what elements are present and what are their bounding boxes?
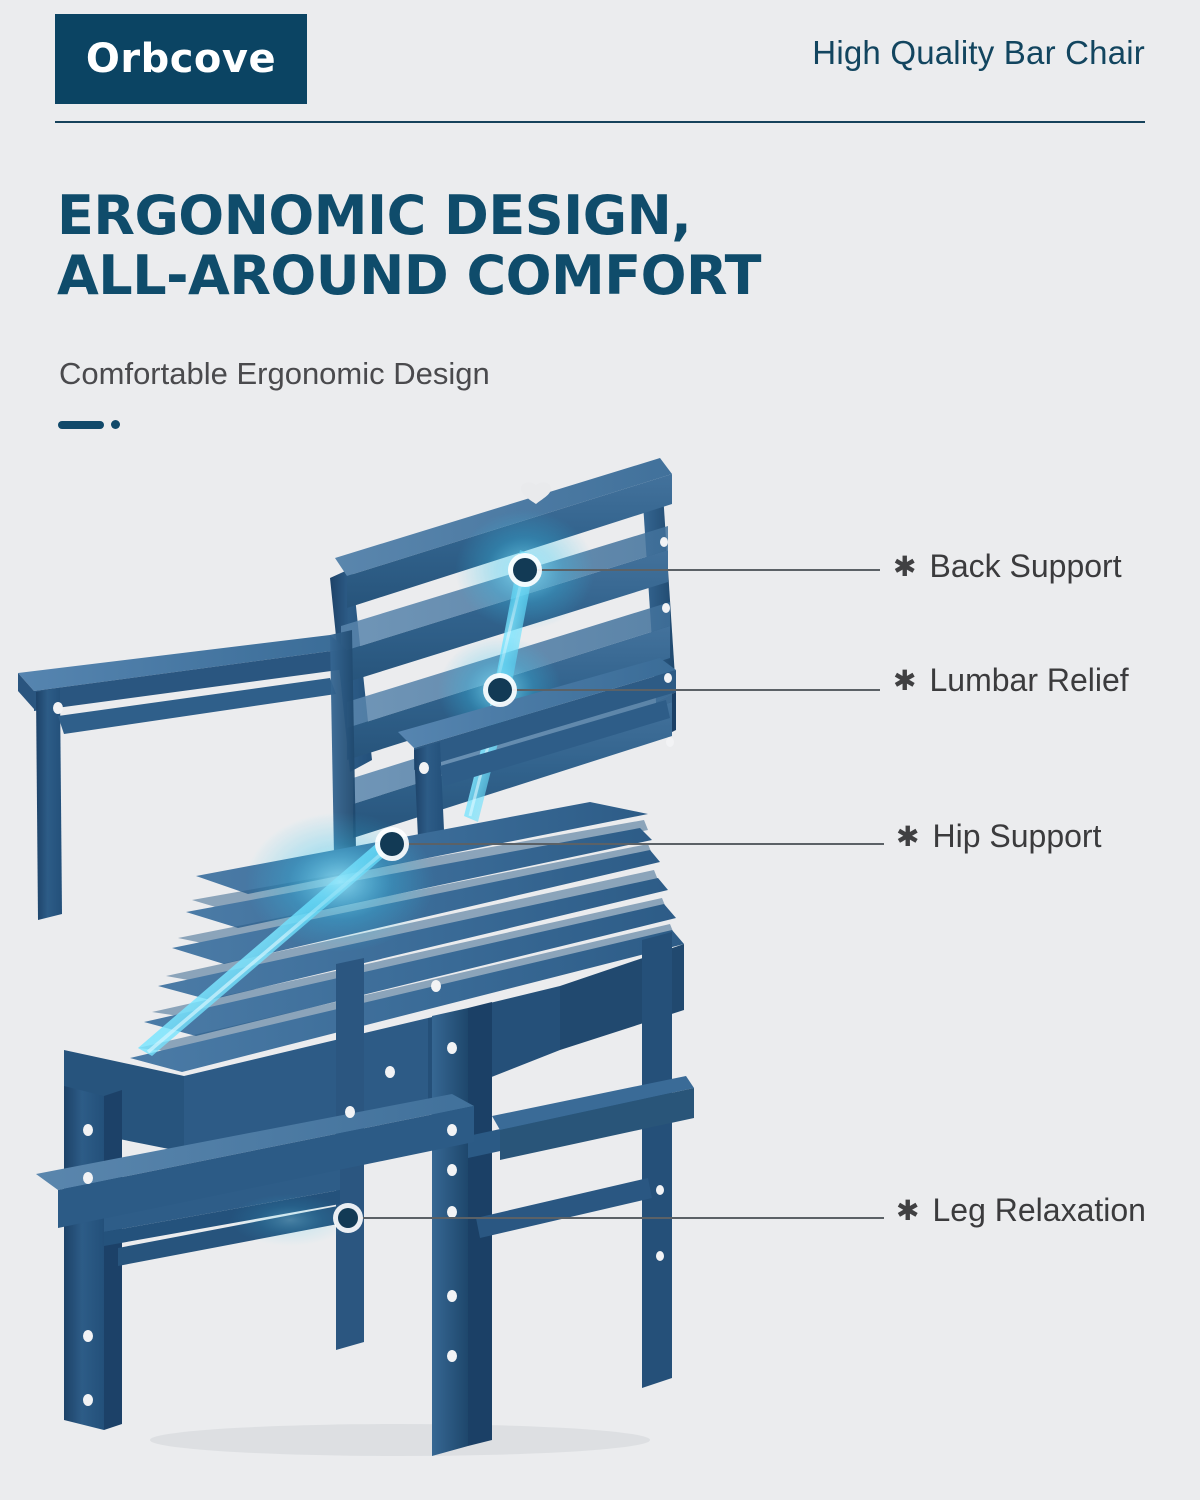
callout-lumbar-relief: ✱ Lumbar Relief	[893, 662, 1129, 699]
accent-divider	[58, 420, 120, 429]
asterisk-icon: ✱	[893, 553, 916, 581]
brand-logo-text: Orbcove	[86, 36, 276, 82]
asterisk-icon: ✱	[896, 823, 919, 851]
asterisk-icon: ✱	[893, 667, 916, 695]
header-title: High Quality Bar Chair	[812, 34, 1145, 72]
page-header: Orbcove High Quality Bar Chair	[0, 0, 1200, 124]
header-divider-rule	[55, 121, 1145, 123]
callout-hip-support: ✱ Hip Support	[896, 818, 1101, 855]
callout-back-support: ✱ Back Support	[893, 548, 1122, 585]
asterisk-icon: ✱	[896, 1197, 919, 1225]
page-subtitle: Comfortable Ergonomic Design	[59, 356, 490, 392]
callout-label: Back Support	[929, 548, 1121, 585]
callout-leg-relaxation: ✱ Leg Relaxation	[896, 1192, 1146, 1229]
divider-bar	[58, 421, 104, 429]
headline-line-2: ALL-AROUND COMFORT	[57, 246, 761, 306]
divider-dot	[111, 420, 120, 429]
callout-label: Leg Relaxation	[932, 1192, 1145, 1229]
headline-line-1: ERGONOMIC DESIGN,	[57, 184, 691, 247]
product-image-stage	[0, 430, 1200, 1500]
callout-label: Lumbar Relief	[929, 662, 1128, 699]
brand-logo: Orbcove	[55, 14, 307, 104]
page-title: ERGONOMIC DESIGN, ALL-AROUND COMFORT	[57, 186, 761, 307]
bar-chair-illustration	[0, 430, 1200, 1500]
callout-label: Hip Support	[932, 818, 1101, 855]
